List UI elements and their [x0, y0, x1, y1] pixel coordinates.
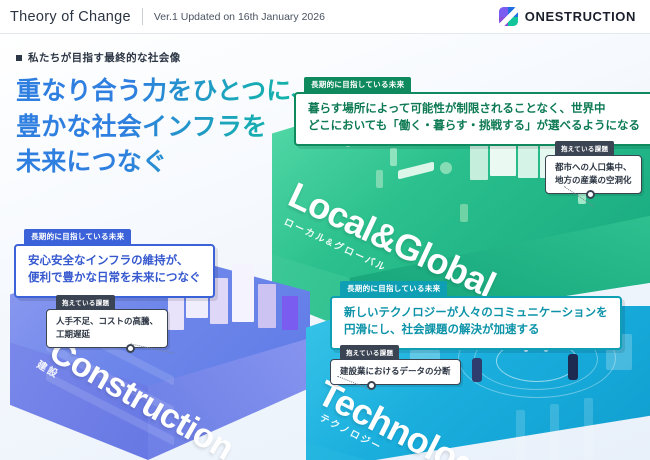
- version-text: Ver.1 Updated on 16th January 2026: [154, 11, 325, 23]
- decor-building: [258, 284, 276, 328]
- page-header: Theory of Change Ver.1 Updated on 16th J…: [0, 0, 650, 34]
- callout-tag-issue: 抱えている課題: [56, 295, 115, 310]
- callout-line: 都市への人口集中、: [555, 161, 632, 174]
- page-title: Theory of Change: [10, 9, 131, 25]
- callout-anchor-dot: [586, 190, 595, 199]
- callout-body-issue-construction: 人手不足、コストの高騰、 工期遅延: [46, 309, 168, 348]
- lead-block: 私たちが目指す最終的な社会像 重なり合う力をひとつに、 豊かな社会インフラを 未…: [16, 50, 306, 181]
- callout-line: どこにおいても「働く・暮らす・挑戦する」が選べるようになる: [308, 118, 640, 135]
- callout-issue-technology: 抱えている課題 建設業におけるデータの分断: [330, 342, 461, 385]
- callout-tag-issue: 抱えている課題: [340, 345, 399, 360]
- lead-headline-line-3: 未来につなぐ: [16, 145, 306, 181]
- callout-future-local-global: 長期的に目指している未来 暮らす場所によって可能性が制限されることなく、世界中 …: [294, 74, 650, 146]
- decor-data-column: [550, 404, 559, 460]
- lead-kicker: 私たちが目指す最終的な社会像: [16, 50, 306, 65]
- callout-issue-construction: 抱えている課題 人手不足、コストの高騰、 工期遅延: [46, 292, 168, 348]
- callout-line: 新しいテクノロジーが人々のコミュニケーションを: [344, 305, 608, 322]
- callout-issue-local-global: 抱えている課題 都市への人口集中、 地方の産業の空洞化: [545, 138, 642, 194]
- lead-headline-line-2: 豊かな社会インフラを: [16, 110, 306, 146]
- lead-headline: 重なり合う力をひとつに、 豊かな社会インフラを 未来につなぐ: [16, 74, 306, 181]
- decor-tree: [440, 162, 452, 174]
- decor-figure: [460, 204, 468, 222]
- infographic-canvas: 私たちが目指す最終的な社会像 重なり合う力をひとつに、 豊かな社会インフラを 未…: [0, 34, 650, 460]
- callout-body-issue-local-global: 都市への人口集中、 地方の産業の空洞化: [545, 155, 642, 194]
- brand-lockup: ONESTRUCTION: [499, 7, 640, 26]
- callout-line: 工期遅延: [56, 328, 158, 341]
- callout-line: 安心安全なインフラの維持が、: [28, 253, 201, 270]
- title-divider: [142, 8, 143, 25]
- callout-tag-future: 長期的に目指している未来: [304, 77, 411, 94]
- decor-building: [232, 264, 254, 322]
- callout-line: 暮らす場所によって可能性が制限されることなく、世界中: [308, 101, 640, 118]
- callout-line: 建設業におけるデータの分断: [340, 365, 451, 378]
- decor-data-column: [516, 410, 525, 460]
- callout-body-future-construction: 安心安全なインフラの維持が、 便利で豊かな日常を未来につなぐ: [14, 244, 215, 298]
- callout-line: 人手不足、コストの高騰、: [56, 315, 158, 328]
- brand-name: ONESTRUCTION: [525, 9, 636, 24]
- callout-tag-issue: 抱えている課題: [555, 141, 614, 156]
- decor-figure: [376, 170, 383, 188]
- decor-building: [282, 296, 298, 330]
- decor-figure: [390, 148, 397, 166]
- callout-future-construction: 長期的に目指している未来 安心安全なインフラの維持が、 便利で豊かな日常を未来に…: [14, 226, 215, 298]
- decor-building: [168, 292, 184, 330]
- lead-headline-line-1: 重なり合う力をひとつに、: [16, 74, 306, 110]
- lead-kicker-label: 私たちが目指す最終的な社会像: [28, 50, 181, 65]
- decor-figure: [568, 354, 578, 380]
- callout-tag-future: 長期的に目指している未来: [340, 281, 447, 298]
- callout-future-technology: 長期的に目指している未来 新しいテクノロジーが人々のコミュニケーションを 円滑に…: [330, 278, 622, 350]
- callout-line: 円滑にし、社会課題の解決が加速する: [344, 322, 608, 339]
- callout-line: 便利で豊かな日常を未来につなぐ: [28, 270, 201, 287]
- callout-line: 地方の産業の空洞化: [555, 174, 632, 187]
- onestruction-logo-icon: [499, 7, 518, 26]
- decor-data-column: [584, 398, 593, 460]
- decor-figure: [472, 358, 482, 382]
- square-bullet-icon: [16, 55, 22, 61]
- callout-tag-future: 長期的に目指している未来: [24, 229, 131, 246]
